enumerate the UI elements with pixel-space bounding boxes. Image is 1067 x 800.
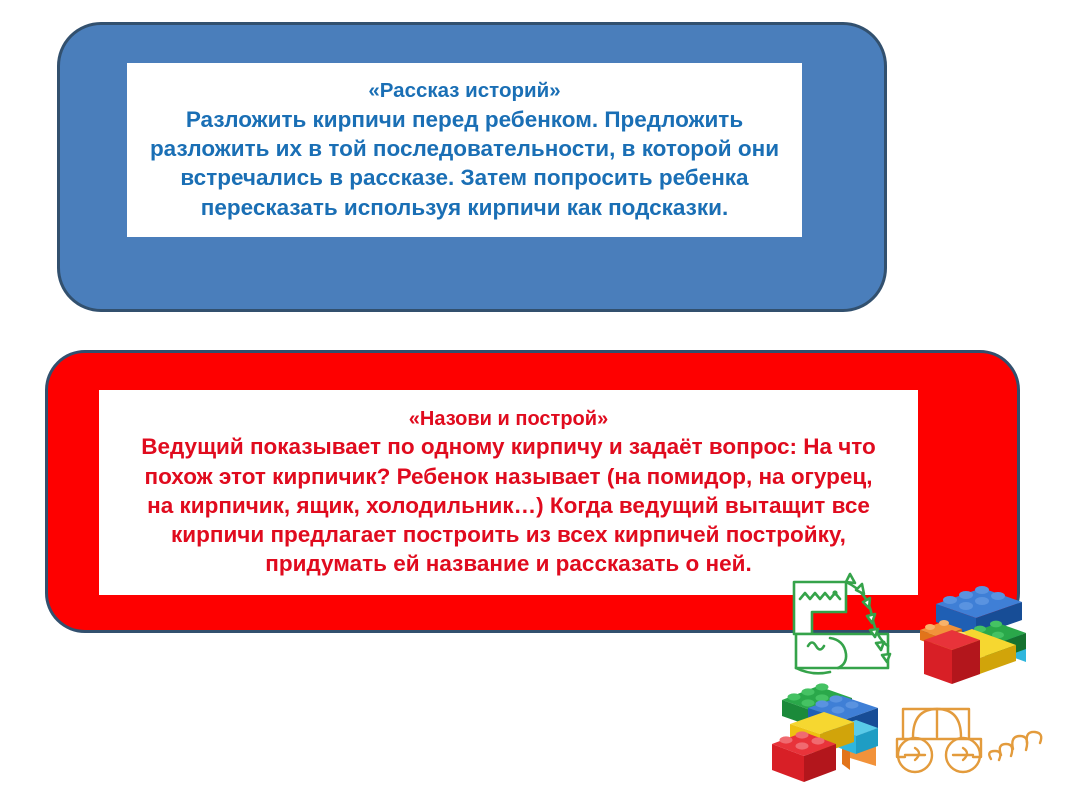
name-and-build-body-line-4: кирпичи предлагает построить из всех кир… [171,520,846,549]
story-telling-text-panel: «Рассказ историй» Разложить кирпичи пере… [127,63,802,237]
story-telling-body-line-4: пересказать используя кирпичи как подска… [201,193,728,222]
name-and-build-body-line-5: придумать ей название и рассказать о ней… [265,549,751,578]
name-and-build-title: «Назови и построй» [409,406,608,432]
name-and-build-text-panel: «Назови и построй» Ведущий показывает по… [99,390,918,595]
story-telling-title: «Рассказ историй» [368,78,560,105]
lego-brick-stack-icon-lower-left [768,678,896,790]
name-and-build-body-line-2: похож этот кирпичик? Ребенок называет (н… [145,462,873,491]
story-telling-body-line-2: разложить их в той последовательности, в… [150,134,779,163]
toy-car-outline-icon [893,693,1045,779]
story-telling-body-line-1: Разложить кирпичи перед ребенком. Предло… [186,105,743,134]
name-and-build-body-line-3: на кирпичик, ящик, холодильник…) Когда в… [147,491,870,520]
name-and-build-body-line-1: Ведущий показывает по одному кирпичу и з… [141,432,876,461]
story-telling-body-line-3: встречались в рассказе. Затем попросить … [180,163,748,192]
